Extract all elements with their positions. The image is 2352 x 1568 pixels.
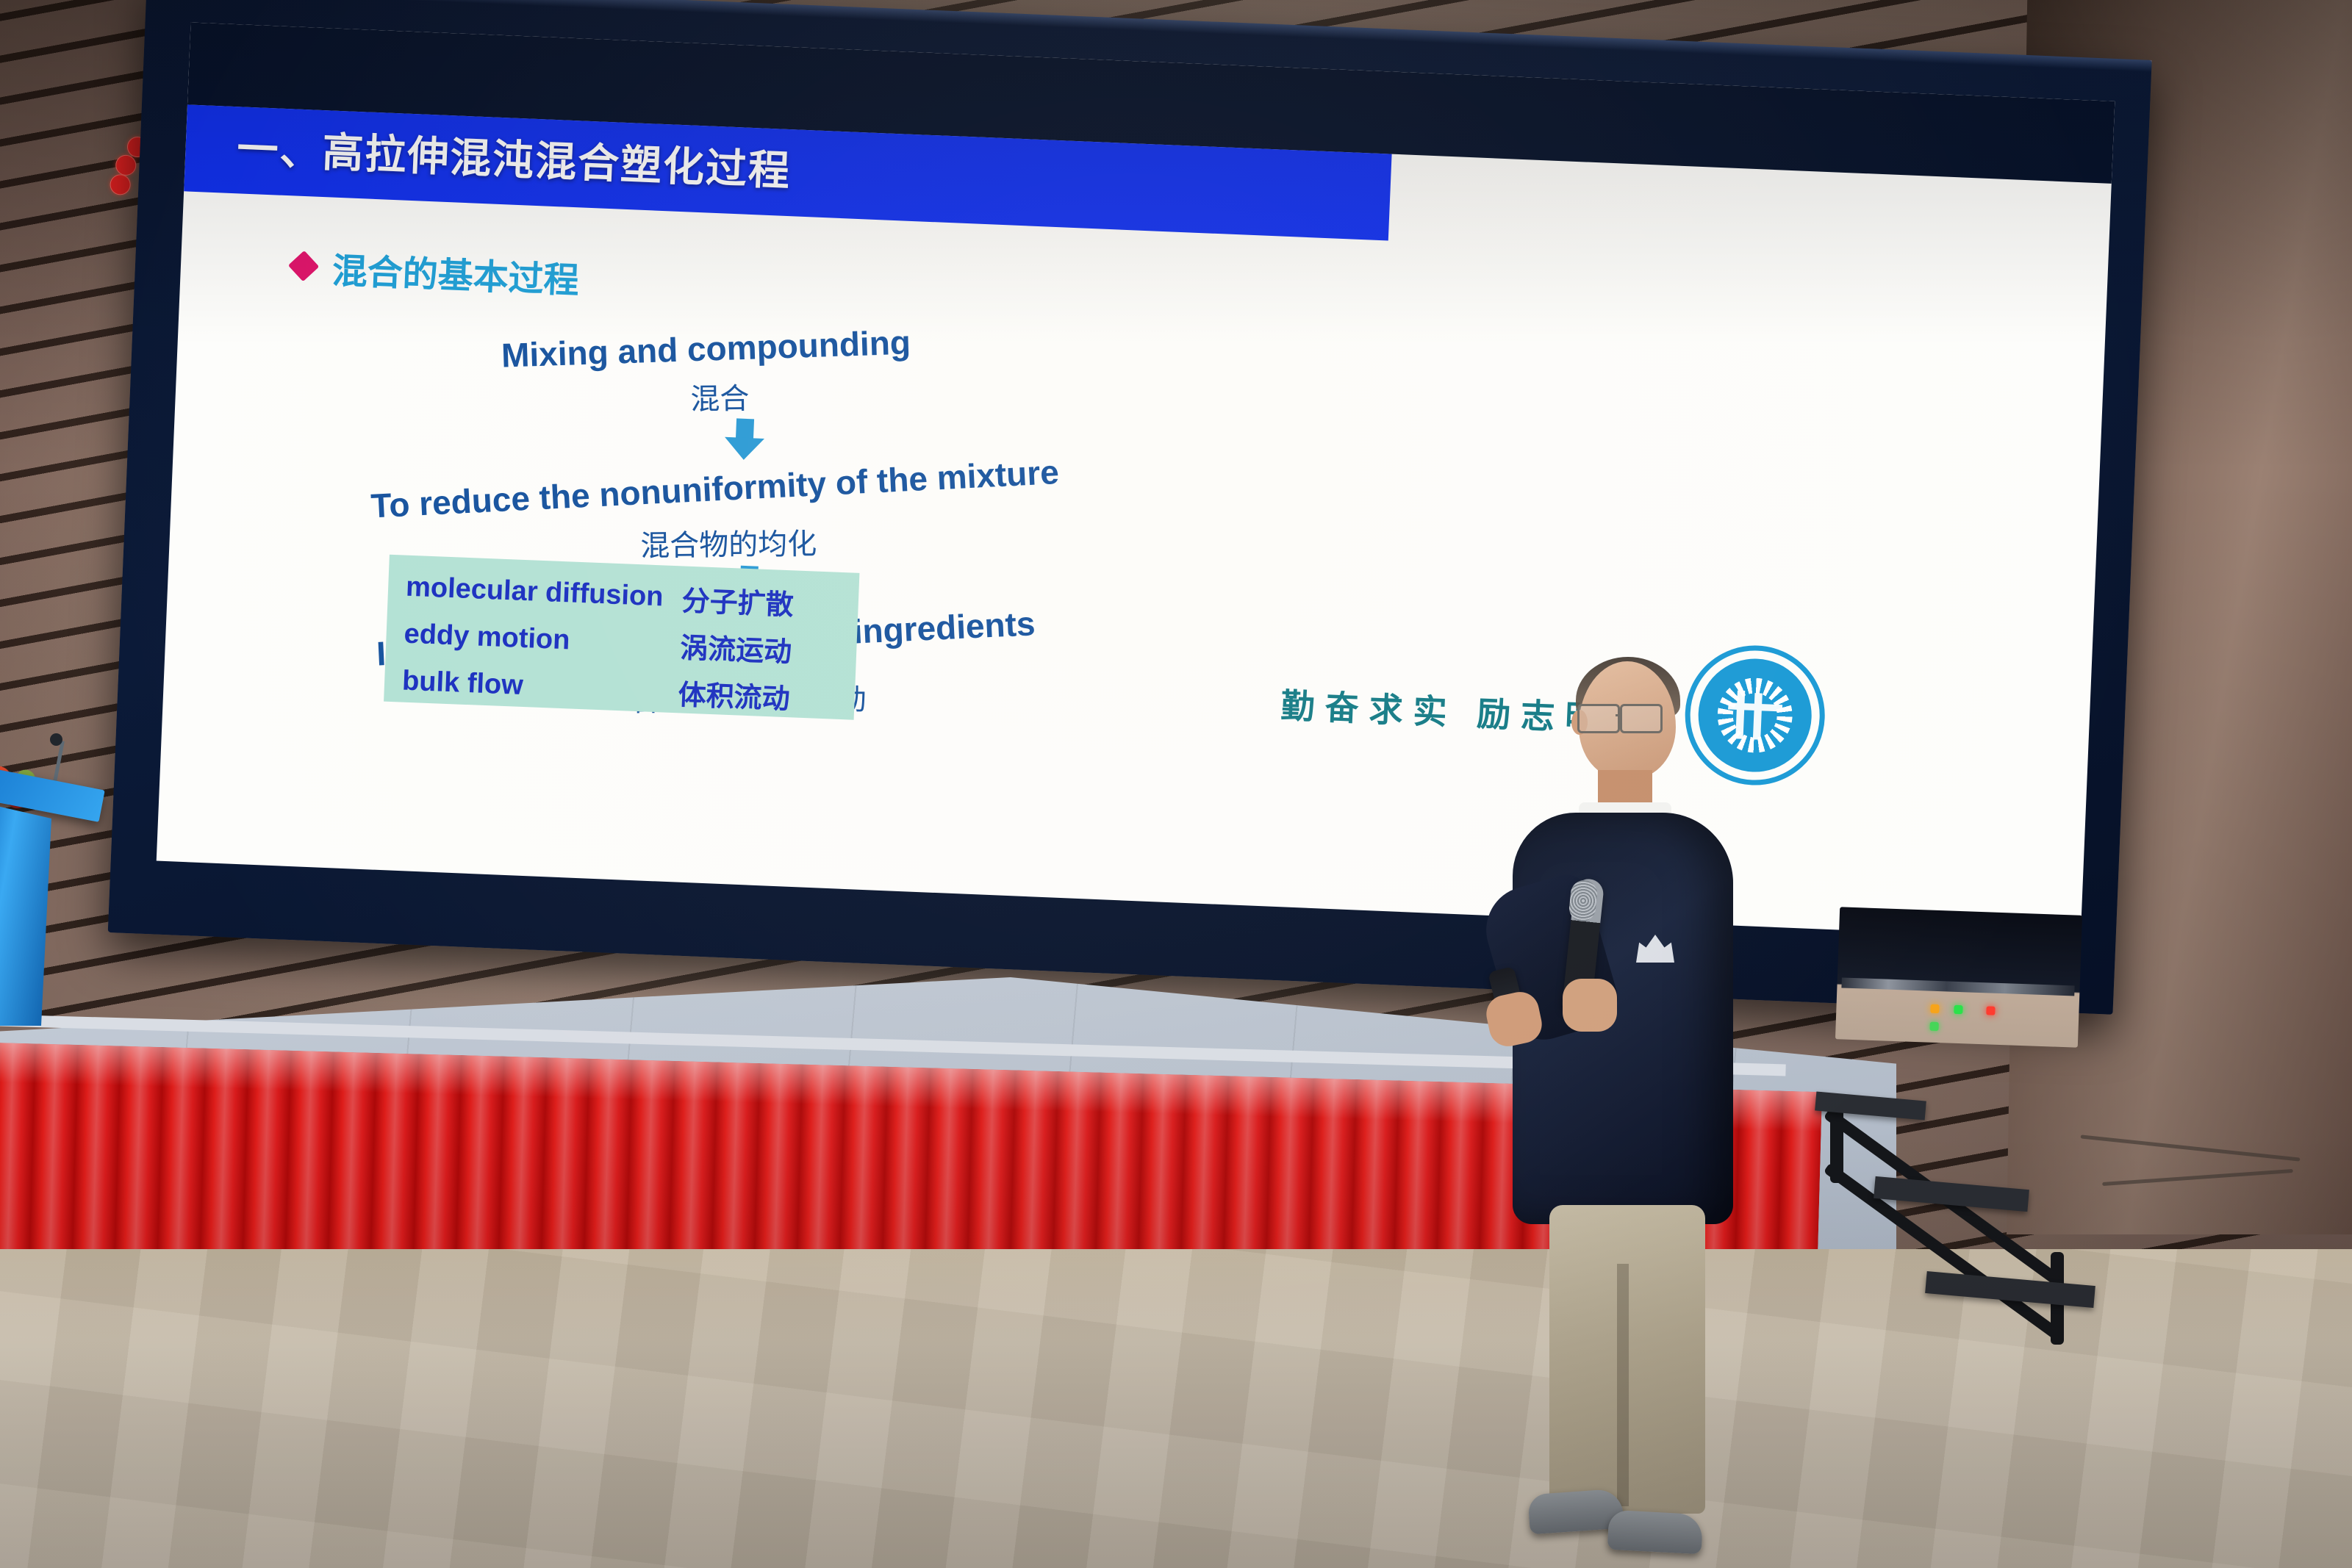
glasses-icon xyxy=(1577,704,1671,729)
lectern-body xyxy=(0,805,51,1026)
status-led-green xyxy=(1954,1005,1962,1014)
presenter xyxy=(1499,661,1735,1568)
flow-step-1-cn: 混合 xyxy=(690,375,750,418)
slide-bullet-text: 混合的基本过程 xyxy=(331,242,581,303)
mechanism-3-cn: 体积流动 xyxy=(678,672,791,716)
mechanism-3-en: bulk flow xyxy=(401,665,523,701)
flow-step-1-en: Mixing and compounding xyxy=(501,323,911,375)
presenter-shoe-right xyxy=(1607,1510,1704,1555)
flow-step-2-cn: 混合物的均化 xyxy=(640,520,817,565)
mechanism-2-cn: 涡流运动 xyxy=(679,625,792,669)
mixing-mechanisms-box: molecular diffusion 分子扩散 eddy motion 涡流运… xyxy=(384,555,859,720)
status-led-orange xyxy=(1930,1004,1939,1013)
mechanism-1-cn: 分子扩散 xyxy=(681,578,795,622)
flow-step-2-en: To reduce the nonuniformity of the mixtu… xyxy=(370,452,1060,526)
mechanism-2-en: eddy motion xyxy=(404,618,570,656)
projection-screen: 一、高拉伸混沌混合塑化过程 混合的基本过程 Mixing and compoun… xyxy=(108,0,2152,1015)
lectern-mic-head-icon xyxy=(50,733,62,746)
diamond-bullet-icon xyxy=(288,251,319,281)
stage-stairs xyxy=(1830,1095,2117,1345)
status-led-green-secondary xyxy=(1929,1022,1938,1031)
mb-logo-dot xyxy=(115,154,137,176)
slide-bullet-row: 混合的基本过程 xyxy=(292,240,581,303)
conference-presentation-photo: MB 一、高拉伸混沌混合塑化过程 混合的基本过程 Mixing and comp… xyxy=(0,0,2352,1568)
mb-logo-dot xyxy=(110,174,131,195)
presenter-right-hand xyxy=(1563,979,1617,1032)
presenter-trouser-seam xyxy=(1617,1264,1629,1506)
status-led-red xyxy=(1986,1006,1995,1015)
presentation-slide: 一、高拉伸混沌混合塑化过程 混合的基本过程 Mixing and compoun… xyxy=(157,22,2115,939)
lectern xyxy=(0,779,103,1021)
mechanism-1-en: molecular diffusion xyxy=(405,571,664,613)
av-equipment-rack xyxy=(1835,907,2082,1047)
